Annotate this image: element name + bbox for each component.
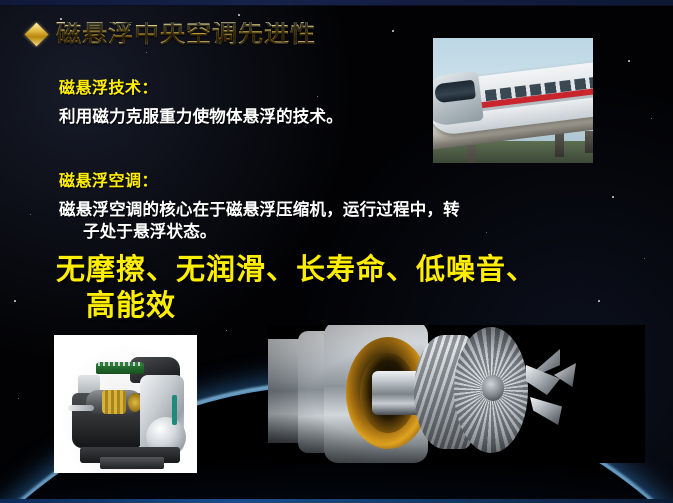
guideway-pier — [467, 145, 476, 163]
guideway-pier — [585, 131, 593, 153]
guideway-pier — [555, 131, 564, 157]
compressor-shaft-rod — [68, 405, 94, 411]
section-1-heading: 磁悬浮技术： — [59, 80, 158, 98]
top-border-strip — [0, 0, 673, 6]
bottom-border-strip — [0, 499, 673, 503]
compressor-sensor — [172, 395, 177, 425]
feature-line-1: 无摩擦、无润滑、长寿命、低噪音、 — [56, 254, 536, 286]
feature-line-2: 高能效 — [56, 288, 656, 324]
slide-title-row: 磁悬浮中央空调先进性 — [28, 22, 316, 47]
section-1-body: 利用磁力克服重力使物体悬浮的技术。 — [59, 107, 343, 129]
section-2-body: 磁悬浮空调的核心在于磁悬浮压缩机，运行过程中，转 子处于悬浮状态。 — [59, 200, 579, 244]
magnetic-bearing-rotor-render — [268, 325, 645, 463]
rotor-vignette — [268, 325, 645, 463]
feature-highlight: 无摩擦、无润滑、长寿命、低噪音、 高能效 — [56, 252, 656, 325]
compressor-cutaway-image — [54, 335, 197, 473]
section-2-heading: 磁悬浮空调： — [59, 173, 158, 191]
maglev-train-photo — [433, 38, 593, 163]
compressor-coil — [102, 390, 126, 414]
page-title: 磁悬浮中央空调先进性 — [56, 22, 316, 47]
diamond-bullet-icon — [24, 22, 48, 46]
section-2-body-line-2: 子处于悬浮状态。 — [59, 222, 579, 244]
presentation-slide: 磁悬浮中央空调先进性 磁悬浮技术： 利用磁力克服重力使物体悬浮的技术。 磁悬浮空… — [0, 0, 673, 503]
compressor-pcb-traces — [98, 362, 142, 366]
compressor-base-rail — [100, 457, 164, 469]
section-2-body-line-1: 磁悬浮空调的核心在于磁悬浮压缩机，运行过程中，转 — [59, 201, 460, 219]
